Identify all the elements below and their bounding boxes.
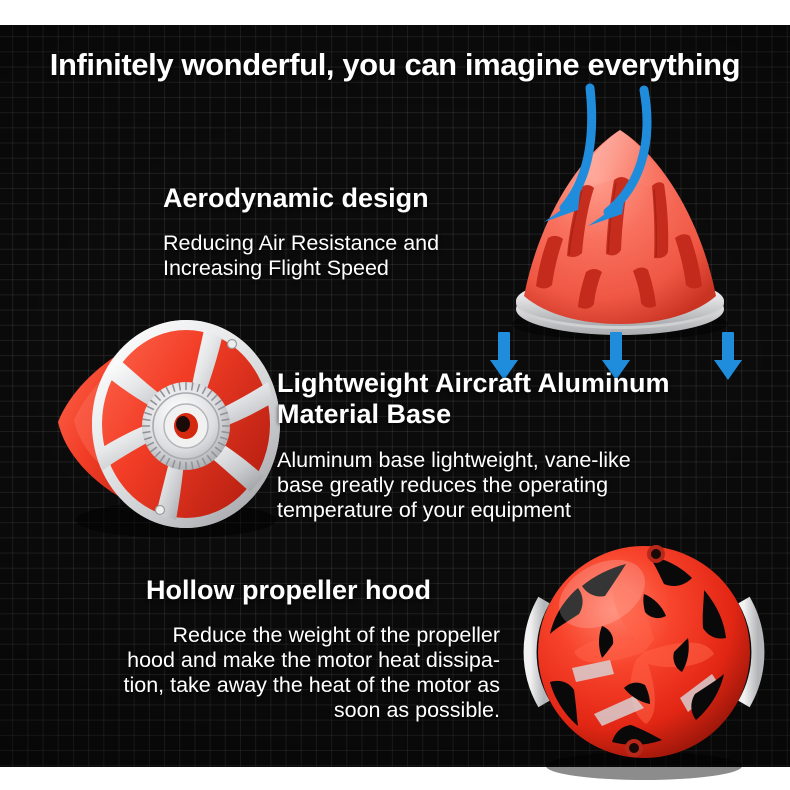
feature-heading-aerodynamic-design: Aerodynamic design: [163, 183, 583, 214]
feature-body-line: Increasing Flight Speed: [163, 256, 563, 281]
hood-screw: [625, 739, 643, 757]
feature-heading-line: Material Base: [277, 399, 777, 430]
feature-body-line: base greatly reduces the operating: [277, 473, 747, 498]
serrated-hub: [142, 382, 230, 470]
feature-body-line: Reducing Air Resistance and: [163, 231, 563, 256]
product-feature-poster: Infinitely wonderful, you can imagine ev…: [0, 0, 790, 790]
feature-body-aerodynamic-design: Reducing Air Resistance and Increasing F…: [163, 231, 563, 281]
feature-heading-hollow-propeller-hood: Hollow propeller hood: [146, 575, 566, 606]
top-white-band: [0, 0, 790, 25]
hood-screw: [647, 545, 665, 563]
feature-body-line: soon as possible.: [60, 698, 500, 723]
feature-heading-line: Lightweight Aircraft Aluminum: [277, 368, 777, 399]
feature-heading-aluminum-base: Lightweight Aircraft Aluminum Material B…: [277, 368, 777, 430]
feature-body-line: hood and make the motor heat dissipa-: [60, 648, 500, 673]
feature-body-line: tion, take away the heat of the motor as: [60, 673, 500, 698]
feature-body-line: Reduce the weight of the propeller: [60, 623, 500, 648]
feature-body-hollow-propeller-hood: Reduce the weight of the propeller hood …: [60, 623, 500, 723]
feature-body-line: temperature of your equipment: [277, 498, 747, 523]
hollow-spherical-propeller-hood-image: [498, 528, 790, 790]
feature-body-aluminum-base: Aluminum base lightweight, vane-like bas…: [277, 448, 747, 523]
aluminum-vane-base-image: [36, 304, 292, 544]
feature-body-line: Aluminum base lightweight, vane-like: [277, 448, 747, 473]
page-title: Infinitely wonderful, you can imagine ev…: [0, 47, 790, 83]
